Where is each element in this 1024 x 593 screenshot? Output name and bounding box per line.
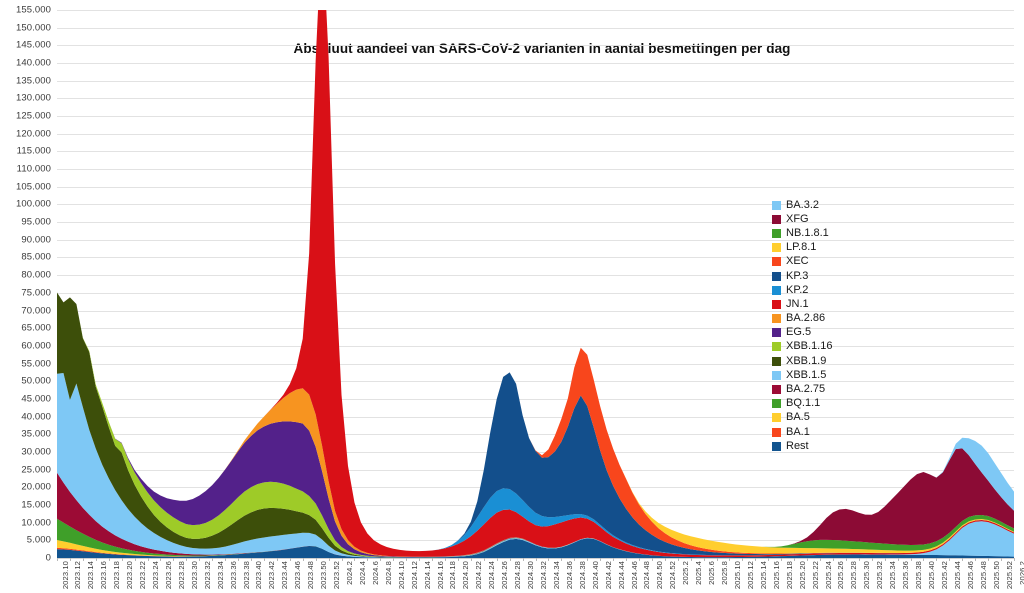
x-axis-tick-label: 2023.18 [112, 561, 121, 589]
x-axis-tick-mark [290, 558, 291, 561]
legend-item-ba-1[interactable]: BA.1 [772, 425, 882, 439]
x-axis-tick-mark [251, 558, 252, 561]
y-axis-tick-label: 35.000 [21, 429, 51, 440]
x-axis-tick-label: 2025.26 [836, 561, 845, 589]
x-axis-tick-mark [626, 558, 627, 561]
x-axis-tick-mark [264, 558, 265, 561]
x-axis-tick-label: 2023.44 [280, 561, 289, 589]
x-axis-tick-label: 2023.30 [190, 561, 199, 589]
legend-item-label: Rest [786, 441, 809, 452]
x-axis-tick-label: 2023.20 [125, 561, 134, 589]
legend-item-rest[interactable]: Rest [772, 439, 882, 453]
x-axis-tick-label: 2025.30 [862, 561, 871, 589]
x-axis-tick-mark [600, 558, 601, 561]
x-axis-tick-mark [859, 558, 860, 561]
x-axis-tick-mark [561, 558, 562, 561]
x-axis-tick-label: 2024.38 [578, 561, 587, 589]
legend-swatch-icon [772, 286, 781, 295]
x-axis-tick-mark [781, 558, 782, 561]
x-axis-tick-mark [277, 558, 278, 561]
legend-swatch-icon [772, 314, 781, 323]
y-axis-tick-label: 20.000 [21, 482, 51, 493]
y-axis-tick-label: 105.000 [16, 181, 51, 192]
x-axis-tick-label: 2023.14 [86, 561, 95, 589]
x-axis-tick-mark [898, 558, 899, 561]
x-axis-tick-label: 2024.28 [513, 561, 522, 589]
x-axis-tick-mark [316, 558, 317, 561]
x-axis-tick-mark [872, 558, 873, 561]
y-axis-tick-label: 60.000 [21, 340, 51, 351]
legend-item-label: KP.3 [786, 271, 808, 282]
x-axis-tick-mark [380, 558, 381, 561]
y-axis-tick-label: 115.000 [17, 146, 51, 157]
legend-item-kp-2[interactable]: KP.2 [772, 283, 882, 297]
x-axis-tick-label: 2025.6 [707, 561, 716, 585]
x-axis-tick-label: 2025.10 [733, 561, 742, 589]
x-axis-tick-label: 2025.50 [992, 561, 1001, 589]
x-axis-tick-label: 2024.34 [552, 561, 561, 589]
x-axis-tick-mark [445, 558, 446, 561]
x-axis-tick-label: 2023.32 [203, 561, 212, 589]
legend-swatch-icon [772, 428, 781, 437]
x-axis-tick-label: 2024.16 [436, 561, 445, 589]
legend-item-label: BA.2.75 [786, 384, 825, 395]
x-axis-tick-mark [717, 558, 718, 561]
x-axis-tick-mark [794, 558, 795, 561]
y-axis-tick-label: 120.000 [16, 128, 51, 139]
x-axis-tick-label: 2024.40 [591, 561, 600, 589]
legend-item-label: BA.5 [786, 412, 810, 423]
legend-item-label: JN.1 [786, 299, 809, 310]
x-axis-tick-mark [122, 558, 123, 561]
x-axis-tick-label: 2023.22 [138, 561, 147, 589]
x-axis-tick-label: 2024.20 [461, 561, 470, 589]
y-axis-tick-label: 50.000 [21, 376, 51, 387]
x-axis-tick-mark [523, 558, 524, 561]
x-axis-tick-label: 2025.44 [953, 561, 962, 589]
x-axis-tick-label: 2023.28 [177, 561, 186, 589]
x-axis-tick-mark [768, 558, 769, 561]
x-axis-tick-label: 2025.24 [824, 561, 833, 589]
x-axis-tick-mark [57, 558, 58, 561]
x-axis-tick-mark [367, 558, 368, 561]
x-axis-tick-mark [1001, 558, 1002, 561]
x-axis-tick-mark [406, 558, 407, 561]
x-axis-tick-label: 2025.38 [914, 561, 923, 589]
x-axis-tick-label: 2025.28 [849, 561, 858, 589]
x-axis-tick-label: 2025.36 [901, 561, 910, 589]
y-axis-tick-label: 45.000 [21, 393, 51, 404]
legend-item-label: XBB.1.5 [786, 370, 826, 381]
x-axis-tick-label: 2023.40 [254, 561, 263, 589]
x-axis-tick-label: 2025.42 [940, 561, 949, 589]
x-axis-tick-label: 2025.20 [798, 561, 807, 589]
y-axis-tick-label: 125.000 [16, 111, 51, 122]
x-axis-tick-mark [639, 558, 640, 561]
x-axis-tick-label: 2023.42 [267, 561, 276, 589]
x-axis-tick-mark [342, 558, 343, 561]
y-axis-tick-label: 40.000 [21, 411, 51, 422]
x-axis-tick-label: 2025.4 [694, 561, 703, 585]
x-axis-tick-mark [186, 558, 187, 561]
legend-item-xec[interactable]: XEC [772, 255, 882, 269]
x-axis-tick-mark [1014, 558, 1015, 561]
x-axis-tick-mark [70, 558, 71, 561]
legend-item-label: NB.1.8.1 [786, 228, 829, 239]
x-axis-tick-label: 2024.36 [565, 561, 574, 589]
x-axis-tick-label: 2023.24 [151, 561, 160, 589]
x-axis-tick-mark [911, 558, 912, 561]
legend-swatch-icon [772, 243, 781, 252]
legend-item-label: XBB.1.9 [786, 356, 826, 367]
x-axis-tick-label: 2024.26 [500, 561, 509, 589]
x-axis-tick-mark [587, 558, 588, 561]
legend-swatch-icon [772, 215, 781, 224]
x-axis-tick-mark [458, 558, 459, 561]
x-axis-tick-mark [936, 558, 937, 561]
x-axis-tick-mark [652, 558, 653, 561]
legend-swatch-icon [772, 229, 781, 238]
x-axis-tick-mark [238, 558, 239, 561]
y-axis-tick-label: 130.000 [16, 93, 51, 104]
y-axis-tick-label: 100.000 [16, 199, 51, 210]
y-axis-tick-label: 10.000 [21, 517, 51, 528]
x-axis-tick-label: 2026.2 [1018, 561, 1024, 585]
x-axis-tick-label: 2025.12 [746, 561, 755, 589]
x-axis-tick-label: 2024.52 [668, 561, 677, 589]
x-axis-tick-mark [419, 558, 420, 561]
y-axis-tick-label: 70.000 [21, 305, 51, 316]
x-axis-tick-label: 2023.48 [306, 561, 315, 589]
y-axis-tick-label: 5.000 [27, 535, 51, 546]
x-axis-tick-mark [199, 558, 200, 561]
x-axis-tick-label: 2025.40 [927, 561, 936, 589]
legend-swatch-icon [772, 300, 781, 309]
legend-item-eg-5[interactable]: EG.5 [772, 326, 882, 340]
x-axis-tick-mark [432, 558, 433, 561]
x-axis-tick-mark [988, 558, 989, 561]
x-axis-tick-label: 2024.8 [384, 561, 393, 585]
x-axis-tick-label: 2024.44 [617, 561, 626, 589]
x-axis-tick-label: 2023.34 [216, 561, 225, 589]
x-axis-tick-label: 2024.46 [630, 561, 639, 589]
x-axis-tick-label: 2023.16 [99, 561, 108, 589]
legend-swatch-icon [772, 399, 781, 408]
legend-swatch-icon [772, 442, 781, 451]
legend-item-kp-3[interactable]: KP.3 [772, 269, 882, 283]
legend-item-label: BA.2.86 [786, 313, 825, 324]
x-axis-tick-label: 2023.26 [164, 561, 173, 589]
x-axis-tick-label: 2023.46 [293, 561, 302, 589]
legend-item-lp-8-1[interactable]: LP.8.1 [772, 241, 882, 255]
legend-swatch-icon [772, 371, 781, 380]
x-axis-tick-label: 2024.18 [448, 561, 457, 589]
x-axis-tick-mark [160, 558, 161, 561]
legend-item-xbb-1-16[interactable]: XBB.1.16 [772, 340, 882, 354]
legend-swatch-icon [772, 257, 781, 266]
legend-item-label: KP.2 [786, 285, 808, 296]
legend-swatch-icon [772, 413, 781, 422]
y-axis-tick-label: 135.000 [16, 75, 51, 86]
x-axis-tick-mark [665, 558, 666, 561]
x-axis-tick-mark [755, 558, 756, 561]
x-axis-tick-label: 2025.34 [888, 561, 897, 589]
y-axis-tick-label: 95.000 [21, 217, 51, 228]
x-axis-tick-mark [574, 558, 575, 561]
x-axis-tick-mark [303, 558, 304, 561]
x-axis-tick-mark [471, 558, 472, 561]
x-axis-tick-label: 2023.52 [332, 561, 341, 589]
x-axis-tick-mark [949, 558, 950, 561]
x-axis-tick-label: 2024.22 [474, 561, 483, 589]
legend-swatch-icon [772, 272, 781, 281]
x-axis-tick-label: 2025.52 [1005, 561, 1014, 589]
x-axis-tick-label: 2025.48 [979, 561, 988, 589]
x-axis-tick-mark [691, 558, 692, 561]
legend-item-jn-1[interactable]: JN.1 [772, 297, 882, 311]
x-axis-tick-label: 2023.10 [61, 561, 70, 589]
x-axis-tick-mark [885, 558, 886, 561]
legend-swatch-icon [772, 328, 781, 337]
x-axis-tick-mark [729, 558, 730, 561]
y-axis-tick-label: 30.000 [21, 446, 51, 457]
x-axis-tick-mark [212, 558, 213, 561]
x-axis-tick-mark [354, 558, 355, 561]
x-axis-tick-label: 2023.38 [242, 561, 251, 589]
x-axis-tick-mark [975, 558, 976, 561]
x-axis-tick-mark [173, 558, 174, 561]
y-axis-tick-label: 15.000 [21, 499, 51, 510]
x-axis-tick-mark [678, 558, 679, 561]
x-axis-tick-label: 2025.18 [785, 561, 794, 589]
x-axis-tick-label: 2024.48 [642, 561, 651, 589]
x-axis-tick-label: 2025.46 [966, 561, 975, 589]
x-axis-tick-mark [820, 558, 821, 561]
legend-item-bq-1-1[interactable]: BQ.1.1 [772, 397, 882, 411]
x-axis-tick-mark [109, 558, 110, 561]
x-axis-tick-label: 2025.22 [811, 561, 820, 589]
x-axis-tick-mark [510, 558, 511, 561]
x-axis-tick-mark [846, 558, 847, 561]
x-axis-tick-mark [484, 558, 485, 561]
x-axis-tick-label: 2025.16 [772, 561, 781, 589]
x-axis-tick-mark [148, 558, 149, 561]
legend-swatch-icon [772, 357, 781, 366]
x-axis-tick-label: 2024.6 [371, 561, 380, 585]
x-axis-tick-mark [225, 558, 226, 561]
x-axis-tick-label: 2024.24 [487, 561, 496, 589]
legend-item-label: BQ.1.1 [786, 398, 820, 409]
legend-item-ba-5[interactable]: BA.5 [772, 411, 882, 425]
legend-item-label: BA.1 [786, 427, 810, 438]
legend-item-ba-2-75[interactable]: BA.2.75 [772, 382, 882, 396]
x-axis-tick-mark [613, 558, 614, 561]
chart-legend: BA.3.2XFGNB.1.8.1LP.8.1XECKP.3KP.2JN.1BA… [772, 198, 882, 453]
legend-item-label: XFG [786, 214, 809, 225]
legend-item-xfg[interactable]: XFG [772, 212, 882, 226]
x-axis: 2023.102023.122023.142023.162023.182023.… [57, 558, 1014, 593]
legend-item-label: XEC [786, 256, 809, 267]
x-axis-tick-mark [329, 558, 330, 561]
y-axis-tick-label: 80.000 [21, 270, 51, 281]
y-axis-tick-label: 90.000 [21, 234, 51, 245]
y-axis: 155.000150.000145.000140.000135.000130.0… [0, 0, 57, 568]
x-axis-tick-label: 2025.8 [720, 561, 729, 585]
y-axis-tick-label: 55.000 [21, 358, 51, 369]
x-axis-tick-label: 2025.32 [875, 561, 884, 589]
x-axis-tick-mark [96, 558, 97, 561]
x-axis-tick-label: 2024.4 [358, 561, 367, 585]
legend-swatch-icon [772, 342, 781, 351]
x-axis-tick-label: 2025.14 [759, 561, 768, 589]
x-axis-tick-label: 2023.36 [229, 561, 238, 589]
y-axis-tick-label: 110.000 [17, 164, 51, 175]
legend-item-ba-2-86[interactable]: BA.2.86 [772, 312, 882, 326]
x-axis-tick-label: 2023.12 [73, 561, 82, 589]
y-axis-tick-label: 140.000 [16, 58, 51, 69]
x-axis-tick-mark [923, 558, 924, 561]
x-axis-tick-mark [536, 558, 537, 561]
legend-item-label: XBB.1.16 [786, 341, 832, 352]
x-axis-tick-mark [135, 558, 136, 561]
x-axis-tick-mark [807, 558, 808, 561]
y-axis-tick-label: 150.000 [16, 22, 51, 33]
x-axis-tick-label: 2024.32 [539, 561, 548, 589]
legend-item-xbb-1-9[interactable]: XBB.1.9 [772, 354, 882, 368]
legend-item-ba-3-2[interactable]: BA.3.2 [772, 198, 882, 212]
x-axis-tick-mark [548, 558, 549, 561]
y-axis-tick-label: 0 [46, 553, 51, 564]
x-axis-tick-mark [742, 558, 743, 561]
y-axis-tick-label: 155.000 [16, 5, 51, 16]
x-axis-tick-mark [83, 558, 84, 561]
y-axis-tick-label: 65.000 [21, 323, 51, 334]
x-axis-tick-label: 2024.50 [655, 561, 664, 589]
x-axis-tick-label: 2024.12 [410, 561, 419, 589]
legend-item-label: EG.5 [786, 327, 811, 338]
x-axis-tick-label: 2024.30 [526, 561, 535, 589]
x-axis-tick-mark [833, 558, 834, 561]
legend-swatch-icon [772, 201, 781, 210]
x-axis-tick-mark [704, 558, 705, 561]
y-axis-tick-label: 145.000 [16, 40, 51, 51]
x-axis-tick-mark [962, 558, 963, 561]
legend-item-label: BA.3.2 [786, 200, 819, 211]
x-axis-tick-label: 2024.2 [345, 561, 354, 585]
x-axis-tick-label: 2023.50 [319, 561, 328, 589]
x-axis-tick-label: 2024.10 [397, 561, 406, 589]
x-axis-tick-label: 2025.2 [681, 561, 690, 585]
legend-swatch-icon [772, 385, 781, 394]
y-axis-tick-label: 25.000 [21, 464, 51, 475]
y-axis-tick-label: 85.000 [21, 252, 51, 263]
x-axis-tick-label: 2024.14 [423, 561, 432, 589]
legend-item-label: LP.8.1 [786, 242, 816, 253]
x-axis-tick-label: 2024.42 [604, 561, 613, 589]
x-axis-tick-mark [393, 558, 394, 561]
chart-page: Absoluut aandeel van SARS-CoV-2 variante… [0, 0, 1024, 593]
y-axis-tick-label: 75.000 [21, 287, 51, 298]
legend-item-nb-1-8-1[interactable]: NB.1.8.1 [772, 226, 882, 240]
x-axis-tick-mark [497, 558, 498, 561]
legend-item-xbb-1-5[interactable]: XBB.1.5 [772, 368, 882, 382]
